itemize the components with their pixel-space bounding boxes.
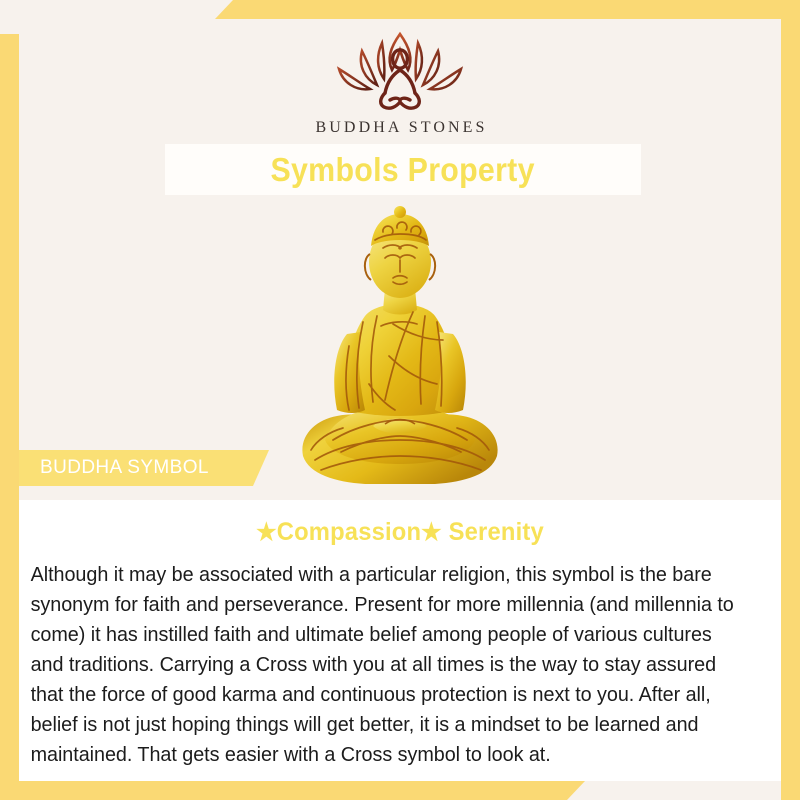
section-subheading: ★Compassion★ Serenity	[38, 500, 762, 547]
page-title-band: Symbols Property	[165, 144, 641, 195]
frame-right-accent-bar	[781, 0, 800, 800]
subheading-term-compassion: Compassion	[277, 518, 421, 546]
star-icon-left: ★	[256, 519, 277, 546]
section-tag-banner: BUDDHA SYMBOL	[19, 450, 269, 486]
frame-left-accent-bar	[0, 34, 19, 800]
description-panel: ★Compassion★ Serenity Although it may be…	[19, 500, 781, 781]
section-body-text: Although it may be associated with a par…	[19, 547, 754, 770]
content-canvas: BUDDHA STONES Symbols Property	[19, 19, 781, 781]
brand-wordmark: BUDDHA STONES	[312, 119, 487, 137]
subheading-term-serenity: Serenity	[449, 518, 544, 546]
star-icon-right: ★	[421, 519, 442, 546]
section-tag-label: BUDDHA SYMBOL	[19, 457, 209, 479]
brand-logo: BUDDHA STONES	[19, 25, 781, 137]
lotus-meditation-icon	[322, 25, 478, 117]
page-title: Symbols Property	[271, 151, 535, 189]
frame-bottom-accent-bar	[0, 781, 585, 800]
infographic-page: BUDDHA STONES Symbols Property	[0, 0, 800, 800]
seated-buddha-illustration	[285, 204, 515, 494]
frame-top-accent-bar	[215, 0, 800, 19]
